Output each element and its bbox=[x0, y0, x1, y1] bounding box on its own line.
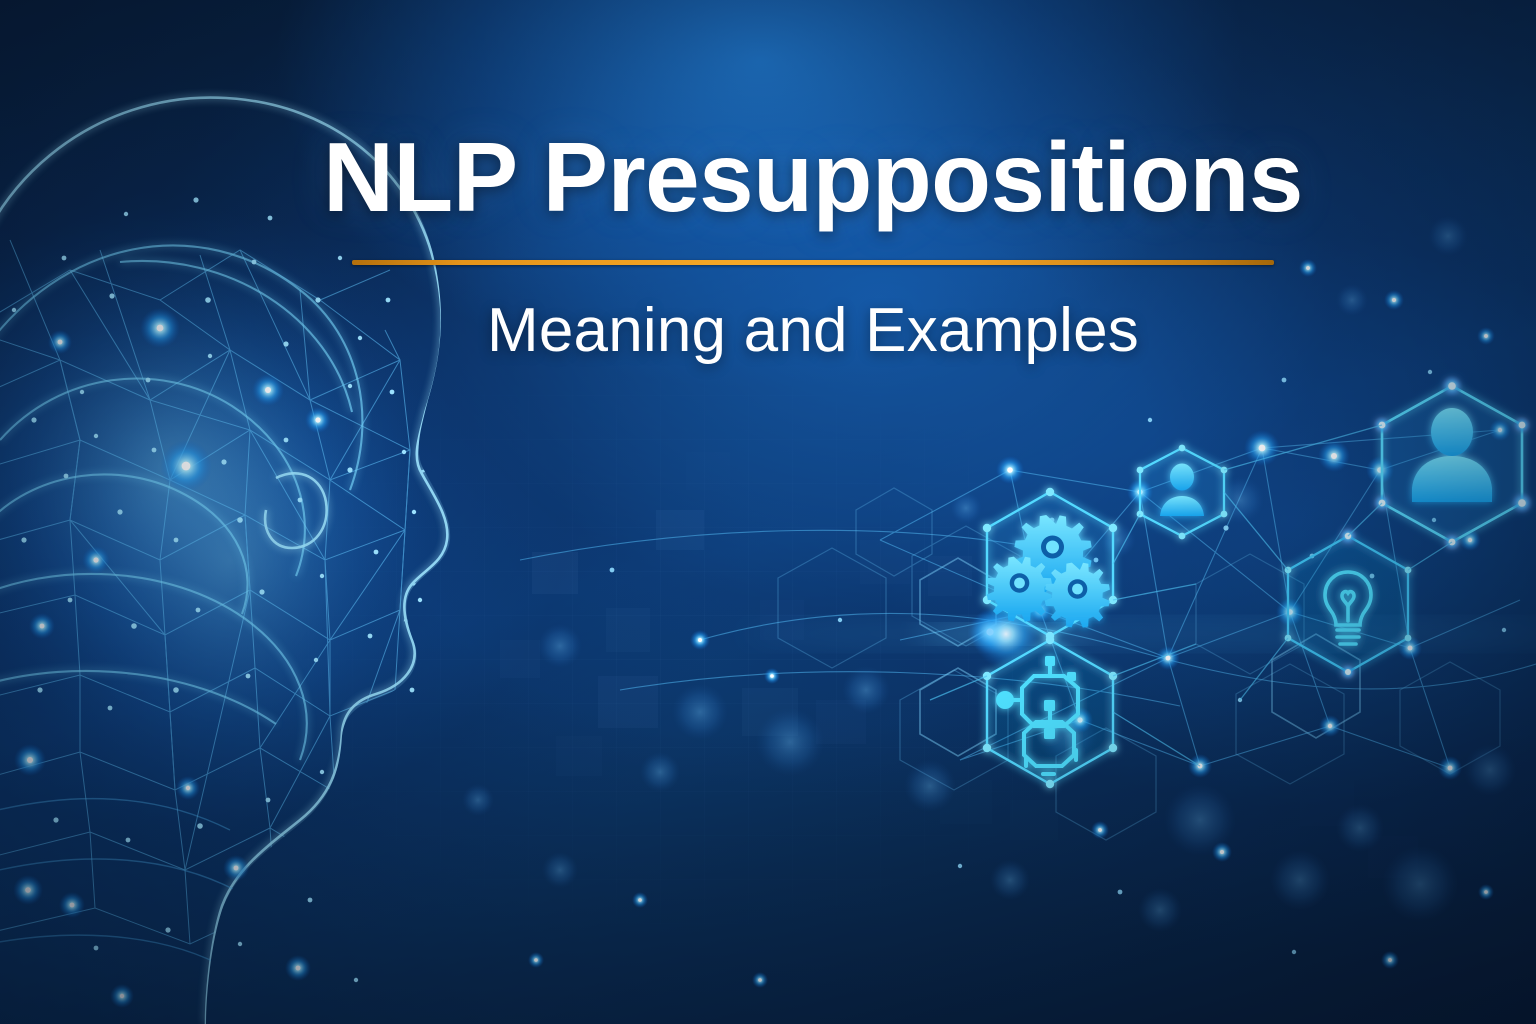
page-title: NLP Presuppositions bbox=[0, 128, 1536, 226]
title-divider bbox=[352, 260, 1274, 265]
title-block: NLP Presuppositions Meaning and Examples bbox=[0, 128, 1536, 366]
hex-person-large bbox=[1373, 375, 1533, 551]
divider-wrap bbox=[0, 260, 1536, 265]
hex-person-small bbox=[1137, 445, 1228, 540]
banner-canvas: NLP Presuppositions Meaning and Examples bbox=[0, 0, 1536, 1024]
page-subtitle: Meaning and Examples bbox=[0, 295, 1536, 366]
hex-lightbulb bbox=[1285, 527, 1412, 680]
